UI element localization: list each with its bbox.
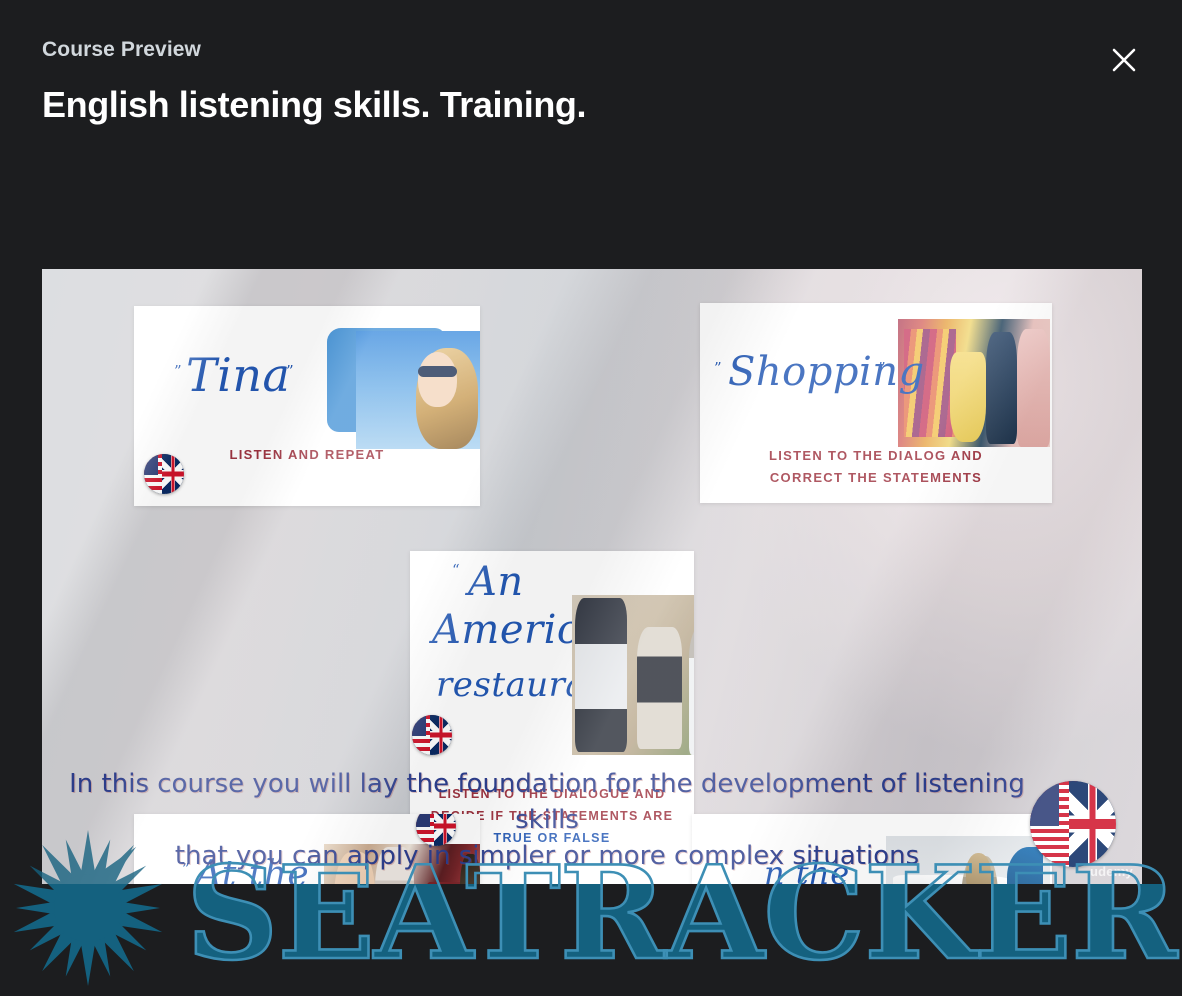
card-caption-line2: CORRECT THE STATEMENTS [700, 469, 1052, 488]
tagline-line-2: that you can apply in simpler or more co… [42, 839, 1052, 875]
card-caption: LISTEN AND REPEAT [134, 446, 480, 465]
slide-card-tina: ” Tina ” LISTEN AND REPEAT [134, 306, 480, 506]
quote-mark: ” [286, 362, 294, 380]
close-button[interactable] [1096, 32, 1152, 88]
quote-mark: ” [174, 362, 182, 380]
tagline-line-1: In this course you will lay the foundati… [42, 767, 1052, 839]
quote-mark: ” [878, 359, 886, 377]
ring-decor-icon [570, 551, 624, 581]
card-photo [572, 595, 694, 755]
course-preview-image[interactable]: ” Tina ” LISTEN AND REPEAT ” Shopping ” … [42, 269, 1142, 884]
slide-card-shopping: ” Shopping ” LISTEN TO THE DIALOG AND CO… [700, 303, 1052, 503]
card-photo [356, 331, 480, 449]
flag-badge-icon [412, 715, 452, 755]
card-title: Shopping [728, 353, 925, 391]
ring-decor-icon [830, 303, 884, 335]
preview-tagline: In this course you will lay the foundati… [42, 767, 1052, 875]
course-preview-modal: Course Preview English listening skills.… [0, 0, 1182, 996]
flag-badge-icon [144, 454, 184, 494]
page-title: English listening skills. Training. [42, 84, 586, 126]
card-caption-line1: LISTEN TO THE DIALOG AND [700, 447, 1052, 466]
quote-mark: “ [452, 561, 460, 579]
flag-badge-icon [1030, 781, 1116, 867]
modal-eyebrow: Course Preview [42, 38, 201, 62]
card-title-line1: An [468, 563, 524, 601]
quote-mark: ” [714, 359, 722, 377]
close-icon [1110, 46, 1138, 74]
udemy-logo: udemy [1090, 864, 1133, 879]
card-title: Tina [186, 354, 290, 398]
ring-decor-icon [269, 306, 323, 338]
